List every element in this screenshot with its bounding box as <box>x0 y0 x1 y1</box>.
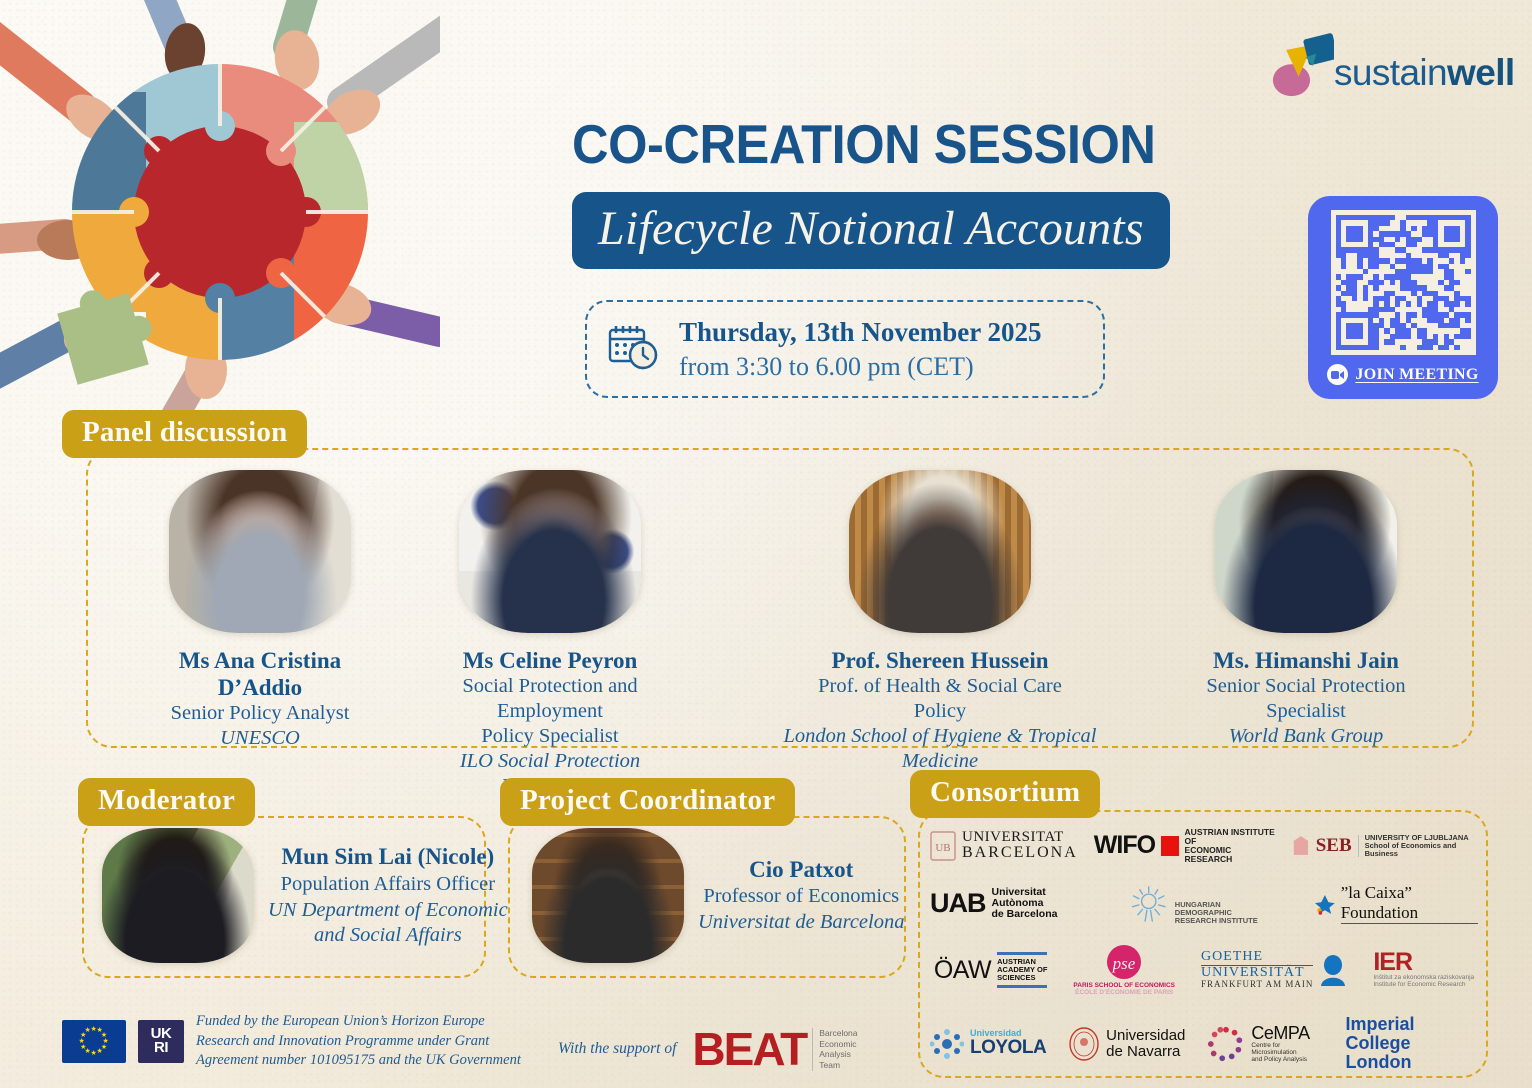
logo-line-2: Universitat Autònoma <box>992 887 1084 909</box>
avatar <box>532 828 684 963</box>
avatar <box>849 470 1031 633</box>
logo-line-1: ”la Caixa” Foundation <box>1341 883 1478 924</box>
logo-line-1: UNIVERSITAT <box>962 830 1078 846</box>
logo-oaw-austrian-academy-of-sciences: ÖAW AUSTRIAN ACADEMY OF SCIENCES <box>934 952 1048 988</box>
panelist-role: Prof. of Health & Social Care Policy <box>814 674 1066 724</box>
beat-logo: BEAT Barcelona Economic Analysis Team <box>692 1028 857 1071</box>
logo-line-1: IER <box>1373 951 1412 974</box>
page-title: CO-CREATION SESSION <box>572 112 1156 176</box>
logo-universidad-de-navarra: Universidad de Navarra <box>1068 1027 1185 1061</box>
avatar <box>1215 470 1397 633</box>
logo-line-3: RESEARCH INSTITUTE <box>1175 917 1269 925</box>
moderator-entry: Mun Sim Lai (Nicole) Population Affairs … <box>102 828 508 963</box>
panelist-role: Senior Policy Analyst <box>171 701 350 726</box>
logo-line-3: ÉCOLE D’ÉCONOMIE DE PARIS <box>1073 990 1175 997</box>
calendar-clock-icon <box>607 322 661 377</box>
coordinator-role: Professor of Economics <box>698 884 904 909</box>
moderator-name: Mun Sim Lai (Nicole) <box>268 843 508 870</box>
logo-line-2: HUNGARIAN DEMOGRAPHIC <box>1175 901 1269 917</box>
logo-line-4: SCIENCES <box>997 974 1047 982</box>
logo-universitat-de-barcelona: UB UNIVERSITAT BARCELONA <box>930 830 1078 863</box>
logo-line-2: Centre for Microsimulation <box>1251 1043 1323 1057</box>
join-meeting-label: JOIN MEETING <box>1355 366 1478 384</box>
logo-line-1: GOETHE <box>1201 950 1313 966</box>
logo-cempa: CeMPA Centre for Microsimulation and Pol… <box>1207 1024 1323 1063</box>
logo-line-2: LOYOLA <box>970 1038 1046 1058</box>
logo-line-1: SEB <box>1316 835 1359 857</box>
consortium-row: UAB Universitat Autònoma de Barcelona HU… <box>930 883 1478 925</box>
moderator-badge: Moderator <box>78 778 255 826</box>
panelist-name: Ms Ana Cristina D’Addio <box>134 647 386 701</box>
session-date: Thursday, 13th November 2025 <box>679 317 1042 348</box>
cempa-people-circle-icon <box>1207 1025 1245 1063</box>
loyola-dots-icon <box>930 1028 964 1060</box>
join-meeting-card[interactable]: JOIN MEETING <box>1308 196 1498 399</box>
session-subtitle: Lifecycle Notional Accounts <box>598 202 1144 255</box>
panel-discussion-badge: Panel discussion <box>62 410 307 458</box>
logo-la-caixa-foundation: ”la Caixa” Foundation <box>1315 883 1478 924</box>
session-subtitle-band: Lifecycle Notional Accounts <box>572 192 1170 269</box>
avatar <box>169 470 351 633</box>
panelist-2: Prof. Shereen Hussein Prof. of Health & … <box>814 470 1066 774</box>
logo-line-1: ÖAW <box>934 956 991 985</box>
panelist-name: Ms. Himanshi Jain <box>1213 647 1399 674</box>
logo-line-1: WIFO <box>1094 831 1155 860</box>
logo-line-2: BARCELONA <box>962 845 1078 862</box>
consortium-row: UB UNIVERSITAT BARCELONA WIFO AUSTRIAN I… <box>930 828 1478 864</box>
coordinator-entry: Cio Patxot Professor of Economics Univer… <box>532 828 904 963</box>
avatar <box>459 470 641 633</box>
la-caixa-star-icon <box>1315 892 1335 916</box>
coordinator-name: Cio Patxot <box>698 856 904 883</box>
ukri-line-2: RI <box>154 1041 168 1055</box>
starburst-icon <box>1129 883 1168 925</box>
support-label: With the support of <box>558 1040 676 1058</box>
ukri-logo: UK RI <box>138 1020 184 1063</box>
navarra-seal-icon <box>1068 1027 1100 1061</box>
logo-ier-institute-for-economic-research: IER Inštitut za ekonomska raziskovanja I… <box>1373 951 1474 988</box>
logo-line-2: AUSTRIAN INSTITUTE OF <box>1185 828 1276 846</box>
panelist-3: Ms. Himanshi Jain Senior Social Protecti… <box>1180 470 1432 749</box>
panelist-name: Ms Celine Peyron <box>463 647 638 674</box>
moderator-role: Population Affairs Officer <box>268 872 508 897</box>
funding-block: ★★★★★★★★★★★★ UK RI Funded by the Europea… <box>62 1012 521 1071</box>
panelist-org: World Bank Group <box>1229 724 1384 749</box>
consortium-badge: Consortium <box>910 770 1100 818</box>
panelist-org: London School of Hygiene & Tropical Medi… <box>775 724 1105 774</box>
eu-star: ★ <box>79 1038 85 1045</box>
eu-star: ★ <box>91 1050 97 1057</box>
video-camera-icon <box>1327 364 1348 385</box>
project-coordinator-badge: Project Coordinator <box>500 778 795 826</box>
panelist-role: Social Protection and Employment Policy … <box>424 674 676 749</box>
join-meeting-link[interactable]: JOIN MEETING <box>1327 364 1478 385</box>
logo-line-3: and Policy Analysis <box>1251 1057 1323 1064</box>
moderator-org: UN Department of Economic and Social Aff… <box>268 898 508 948</box>
logo-text-light: sustain <box>1334 52 1447 93</box>
consortium-row: ÖAW AUSTRIAN ACADEMY OF SCIENCES pse PAR… <box>930 944 1478 997</box>
logo-goethe-universitat-frankfurt-am-main: GOETHE UNIVERSITÄT FRANKFURT AM MAIN <box>1201 950 1347 990</box>
logo-seb-university-of-ljubljana: SEB UNIVERSITY OF LJUBLJANA School of Ec… <box>1292 834 1478 858</box>
logo-line-3: de Barcelona <box>992 909 1084 920</box>
logo-line-1: Imperial College <box>1346 1015 1479 1053</box>
support-block: With the support of BEAT Barcelona Econo… <box>558 1028 858 1071</box>
logo-line-3: ECONOMIC RESEARCH <box>1185 846 1276 864</box>
panelist-role: Senior Social Protection Specialist <box>1180 674 1432 724</box>
logo-line-1: UAB <box>930 888 986 919</box>
logo-line-1: Universidad <box>1106 1028 1185 1044</box>
sustainwell-logo: sustainwell <box>1272 26 1502 110</box>
eu-flag-icon: ★★★★★★★★★★★★ <box>62 1020 126 1063</box>
logo-wifo-austrian-institute-of-economic-research: WIFO AUSTRIAN INSTITUTE OF ECONOMIC RESE… <box>1094 828 1276 864</box>
pse-monogram: pse <box>1112 954 1136 973</box>
logo-line-2: London <box>1346 1053 1479 1072</box>
eu-star: ★ <box>85 1027 91 1034</box>
logo-wordmark: sustainwell <box>1334 52 1515 94</box>
logo-text-bold: well <box>1447 52 1515 93</box>
coordinator-org: Universitat de Barcelona <box>698 910 904 935</box>
panelist-0: Ms Ana Cristina D’Addio Senior Policy An… <box>134 470 386 751</box>
eu-star: ★ <box>97 1048 103 1055</box>
logo-line-2: UNIVERSITÄT <box>1201 966 1313 981</box>
teamwork-puzzle-illustration <box>0 0 440 442</box>
consortium-row: Universidad LOYOLA Universidad de Navarr… <box>930 1015 1478 1072</box>
beat-subtext: Barcelona Economic Analysis Team <box>812 1028 857 1071</box>
svg-text:UB: UB <box>935 842 950 854</box>
beat-wordmark: BEAT <box>692 1029 806 1070</box>
panelist-org: UNESCO <box>220 726 300 751</box>
logo-hungarian-demographic-research-institute: HUNGARIAN DEMOGRAPHIC RESEARCH INSTITUTE <box>1129 883 1269 925</box>
logo-paris-school-of-economics: pse PARIS SCHOOL OF ECONOMICS ÉCOLE D’ÉC… <box>1073 944 1175 997</box>
eu-star: ★ <box>80 1044 86 1051</box>
panelist-name: Prof. Shereen Hussein <box>831 647 1048 674</box>
funding-text: Funded by the European Union’s Horizon E… <box>196 1012 521 1071</box>
goethe-portrait-icon <box>1319 954 1347 986</box>
session-datetime-box: Thursday, 13th November 2025 from 3:30 t… <box>585 300 1105 398</box>
panelist-1: Ms Celine Peyron Social Protection and E… <box>424 470 676 799</box>
logo-universidad-loyola: Universidad LOYOLA <box>930 1028 1046 1060</box>
session-time: from 3:30 to 6.00 pm (CET) <box>679 352 1042 382</box>
consortium-logo-grid: UB UNIVERSITAT BARCELONA WIFO AUSTRIAN I… <box>930 828 1478 1072</box>
logo-line-2: de Navarra <box>1106 1044 1185 1060</box>
qr-code[interactable] <box>1331 210 1476 355</box>
avatar <box>102 828 254 963</box>
logo-line-3: Institute for Economic Research <box>1373 982 1474 989</box>
logo-line-3: FRANKFURT AM MAIN <box>1201 980 1313 989</box>
logo-line-3: School of Economics and Business <box>1365 842 1478 858</box>
logo-imperial-college-london: Imperial College London <box>1346 1015 1479 1072</box>
logo-line-1: CeMPA <box>1251 1024 1323 1043</box>
red-square-icon <box>1161 836 1179 856</box>
logo-uab-universitat-autonoma-de-barcelona: UAB Universitat Autònoma de Barcelona <box>930 887 1083 920</box>
